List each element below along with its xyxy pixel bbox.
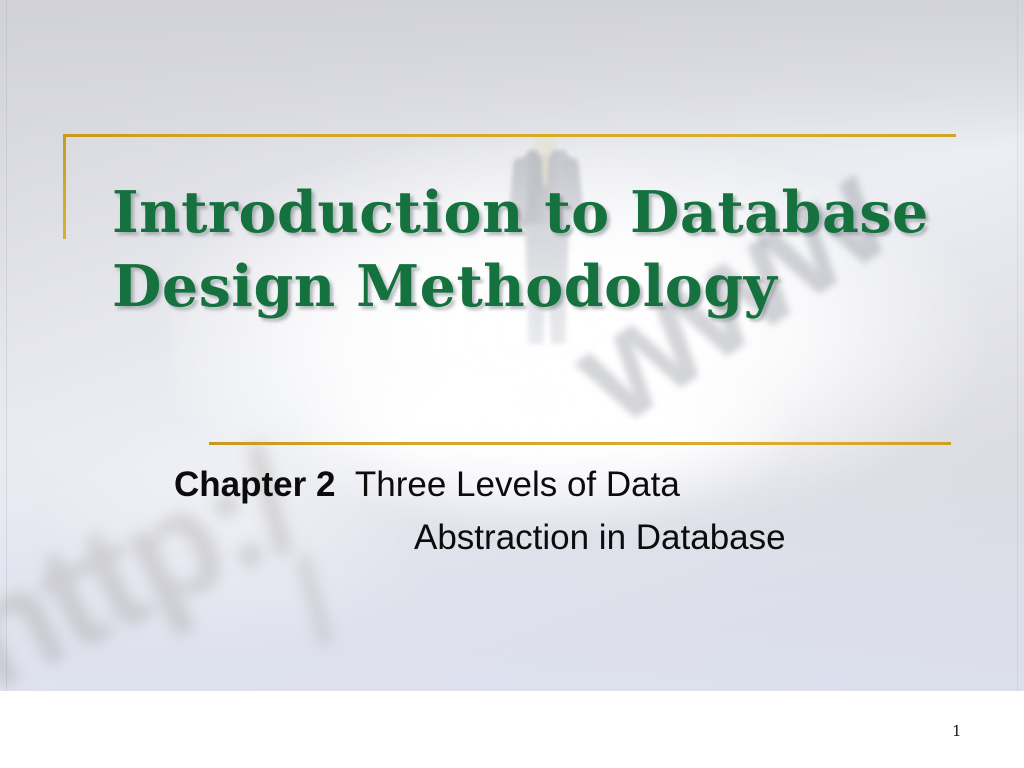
slide-edge-left — [6, 0, 7, 691]
slide-title-line-1: Introduction to Database — [112, 176, 942, 250]
slide-edge-right — [1017, 0, 1018, 691]
subtitle-spacer — [335, 465, 354, 504]
subtitle-line-1: Three Levels of Data — [355, 465, 680, 504]
slide-subtitle: Chapter 2 Three Levels of Data Abstracti… — [174, 458, 964, 564]
slide-title-line-2: Design Methodology — [112, 250, 942, 324]
subtitle-line-2: Abstraction in Database — [174, 511, 964, 564]
slide-title: Introduction to Database Design Methodol… — [112, 176, 942, 324]
gold-rule-left — [63, 134, 66, 239]
gold-rule-middle — [209, 442, 951, 445]
page-number: 1 — [952, 722, 962, 740]
chapter-label: Chapter 2 — [174, 465, 335, 504]
slide-canvas: http:/ / www Introduction to Database De… — [0, 0, 1024, 691]
gold-rule-top — [63, 134, 956, 137]
